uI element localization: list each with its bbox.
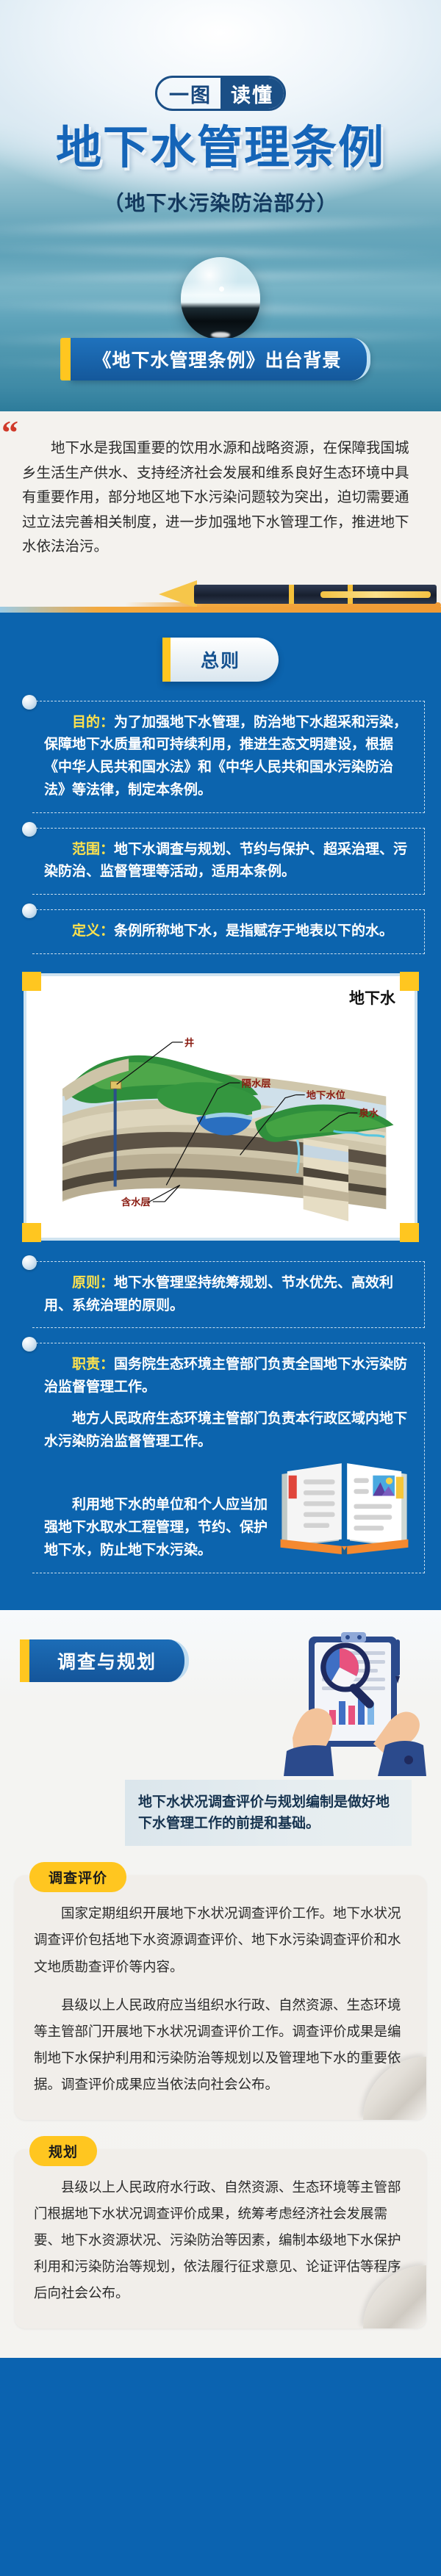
page-subtitle: （地下水污染防治部分）: [0, 187, 441, 217]
general-provisions-section: 总则 目的：为了加强地下水管理，防治地下水超采和污染，保障地下水质量和可持续利用…: [0, 613, 441, 1610]
list-item: 范围：地下水调查与规划、节约与保护、超采治理、污染防治、监督管理等活动，适用本条…: [16, 828, 425, 895]
tablet-chart-magnifier-icon: [278, 1629, 432, 1780]
chapter-title-general: 总则: [162, 638, 279, 682]
figure-label-well: 井: [184, 1036, 194, 1049]
bullet-dot-icon: [22, 1255, 37, 1270]
quote-mark-icon: “: [1, 416, 18, 450]
page-title: 地下水管理条例: [0, 110, 441, 176]
badge-left-label: 一图: [157, 78, 220, 109]
background-section-title: 《地下水管理条例》出台背景: [71, 338, 370, 380]
open-book-icon: [276, 1454, 412, 1559]
survey-planning-section: 调查与规划: [0, 1610, 441, 2359]
card-paragraph: 县级以上人民政府应当组织水行政、自然资源、生态环境等主管部门开展地下水状况调查评…: [34, 1992, 407, 2098]
figure-label-aquitard: 隔水层: [242, 1077, 271, 1089]
card-survey-evaluation: 调查评价 国家定期组织开展地下水状况调查评价工作。地下水状况调查评价包括地下水资…: [15, 1875, 426, 2119]
survey-intro-band: 地下水状况调查评价与规划编制是做好地下水管理工作的前提和基础。: [125, 1780, 412, 1847]
droplet-splash-icon: [211, 332, 230, 338]
list-item: 定义：条例所称地下水，是指赋存于地表以下的水。: [16, 909, 425, 954]
list-item: 原则：地下水管理坚持统筹规划、节水优先、高效利用、系统治理的原则。: [16, 1261, 425, 1329]
fountain-pen-icon: [0, 573, 441, 613]
background-card: “ 地下水是我国重要的饮用水源和战略资源，在保障我国城乡生活生产供水、支持经济社…: [0, 411, 441, 573]
groundwater-cross-section-svg: 井 隔水层 地下水位 泉水 含水层: [32, 984, 409, 1232]
list-item-duty: 职责：国务院生态环境主管部门负责全国地下水污染防治监督管理工作。 地方人民政府生…: [16, 1343, 425, 1573]
corner-ornament: [400, 1223, 419, 1242]
figure-label-water-table: 地下水位: [306, 1089, 345, 1102]
duty-text-3: 利用地下水的单位和个人应当加强地下水取水工程管理，节约、保护地下水，防止地下水污…: [44, 1494, 269, 1562]
item-label: 原则：: [72, 1275, 114, 1291]
card-tag-label: 规划: [29, 2136, 97, 2166]
corner-ornament: [22, 972, 41, 991]
figure-title: 地下水: [349, 986, 395, 1009]
corner-ornament: [22, 1223, 41, 1242]
item-label: 定义：: [72, 923, 114, 939]
water-ripple: [0, 215, 441, 236]
card-tag-label: 调查评价: [29, 1862, 126, 1892]
item-label: 范围：: [72, 842, 114, 857]
water-droplet-icon: [181, 257, 260, 339]
chapter-title-survey: 调查与规划: [29, 1639, 189, 1682]
groundwater-diagram: 地下水: [19, 969, 422, 1245]
figure-label-spring: 泉水: [358, 1107, 379, 1119]
bullet-dot-icon: [22, 822, 37, 837]
bullet-dot-icon: [22, 695, 37, 710]
chapter-pill-row: 总则: [0, 638, 441, 682]
list-item: 目的：为了加强地下水管理，防治地下水超采和污染，保障地下水质量和可持续利用，推进…: [16, 701, 425, 813]
corner-ornament: [400, 972, 419, 991]
card-planning: 规划 县级以上人民政府水行政、自然资源、生态环境等主管部门根据地下水状况调查评价…: [15, 2149, 426, 2328]
infographic-page: 一图 读懂 地下水管理条例 （地下水污染防治部分） 《地下水管理条例》出台背景 …: [0, 0, 441, 2358]
item-text: 条例所称地下水，是指赋存于地表以下的水。: [114, 923, 393, 939]
background-pill-row: 《地下水管理条例》出台背景: [0, 338, 441, 380]
figure-label-aquifer: 含水层: [121, 1196, 151, 1208]
hero-banner: 一图 读懂 地下水管理条例 （地下水污染防治部分） 《地下水管理条例》出台背景: [0, 0, 441, 411]
badge-right-label: 读懂: [220, 78, 284, 109]
read-badge: 一图 读懂: [0, 76, 441, 111]
card-paragraph: 国家定期组织开展地下水状况调查评价工作。地下水状况调查评价包括地下水资源调查评价…: [34, 1900, 407, 1980]
duty-text-2: 地方人民政府生态环境主管部门负责本行政区域内地下水污染防治监督管理工作。: [44, 1408, 412, 1454]
duty-label: 职责：: [72, 1357, 114, 1372]
item-label: 目的：: [72, 715, 114, 730]
card-paragraph: 县级以上人民政府水行政、自然资源、生态环境等主管部门根据地下水状况调查评价成果，…: [34, 2174, 407, 2306]
background-paragraph: 地下水是我国重要的饮用水源和战略资源，在保障我国城乡生活生产供水、支持经济社会发…: [22, 436, 419, 560]
